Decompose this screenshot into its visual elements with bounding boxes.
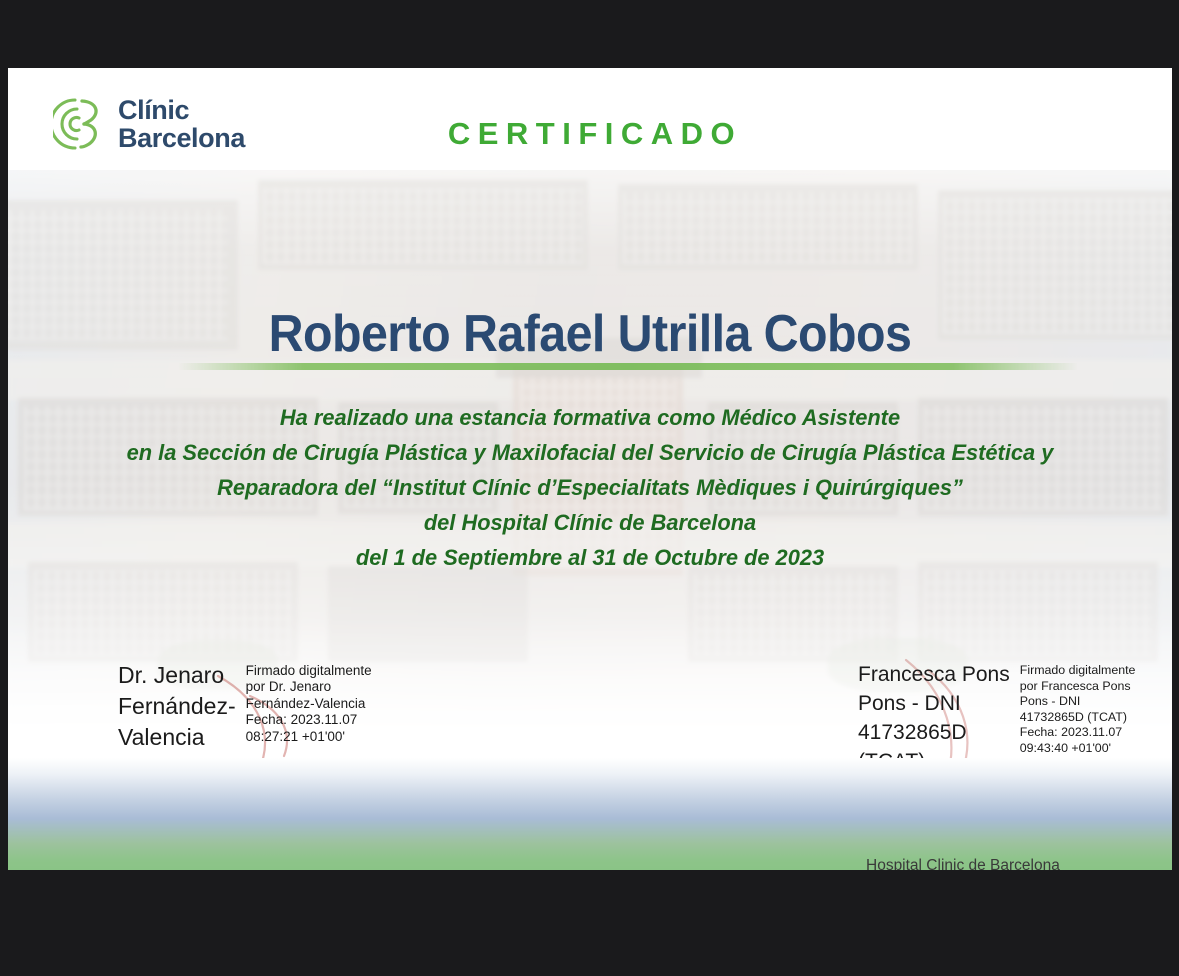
- body-line-2: en la Sección de Cirugía Plástica y Maxi…: [25, 435, 1154, 470]
- signature-identity-line: Valencia: [118, 722, 236, 753]
- signature-meta-line: por Dr. Jenaro: [246, 679, 372, 695]
- signature-meta-line: 09:43:40 +01'00': [1020, 741, 1136, 757]
- signature-meta-line: Fecha: 2023.11.07: [246, 712, 372, 728]
- recipient-name: Roberto Rafael Utrilla Cobos: [49, 304, 1132, 364]
- body-line-3: Reparadora del “Institut Clínic d’Especi…: [25, 470, 1154, 505]
- signature-meta-line: Firmado digitalmente: [246, 663, 372, 679]
- screenshot-canvas: Clínic Barcelona CERTIFICADO Roberto Raf…: [0, 0, 1179, 976]
- digital-signature-stamp: Dr. Jenaro Fernández- Valencia Firmado d…: [118, 660, 428, 753]
- signature-identity-line: Dr. Jenaro: [118, 660, 236, 691]
- signature-identity: Dr. Jenaro Fernández- Valencia: [118, 660, 236, 753]
- signature-identity-line: Fernández-: [118, 691, 236, 722]
- body-line-1: Ha realizado una estancia formativa como…: [25, 400, 1154, 435]
- footer-organization: Hospital Clinic de Barcelona: [866, 856, 1079, 870]
- body-line-5: del 1 de Septiembre al 31 de Octubre de …: [25, 540, 1154, 575]
- signature-identity-line: Francesca Pons: [858, 660, 1010, 689]
- signature-meta-line: Fecha: 2023.11.07: [1020, 725, 1136, 741]
- certificate-title: CERTIFICADO: [8, 116, 1172, 152]
- signature-metadata: Firmado digitalmente por Dr. Jenaro Fern…: [246, 660, 372, 753]
- certificate-header: Clínic Barcelona CERTIFICADO: [8, 68, 1172, 172]
- signature-meta-line: 41732865D (TCAT): [1020, 710, 1136, 726]
- certificate-body: Ha realizado una estancia formativa como…: [8, 400, 1172, 575]
- signature-meta-line: Fernández-Valencia: [246, 696, 372, 712]
- signature-meta-line: Pons - DNI: [1020, 694, 1136, 710]
- signature-identity-line: 41732865D: [858, 718, 1010, 747]
- signature-meta-line: 08:27:21 +01'00': [246, 729, 372, 745]
- name-underline-rule: [178, 363, 1078, 370]
- body-line-4: del Hospital Clínic de Barcelona: [25, 505, 1154, 540]
- footer-contact-info: Hospital Clinic de Barcelona C/ Villarro…: [866, 856, 1079, 870]
- signature-meta-line: por Francesca Pons: [1020, 679, 1136, 695]
- footer-gradient-band: [8, 758, 1172, 870]
- signature-identity-line: Pons - DNI: [858, 689, 1010, 718]
- certificate-document: Clínic Barcelona CERTIFICADO Roberto Raf…: [8, 68, 1172, 870]
- signature-meta-line: Firmado digitalmente: [1020, 663, 1136, 679]
